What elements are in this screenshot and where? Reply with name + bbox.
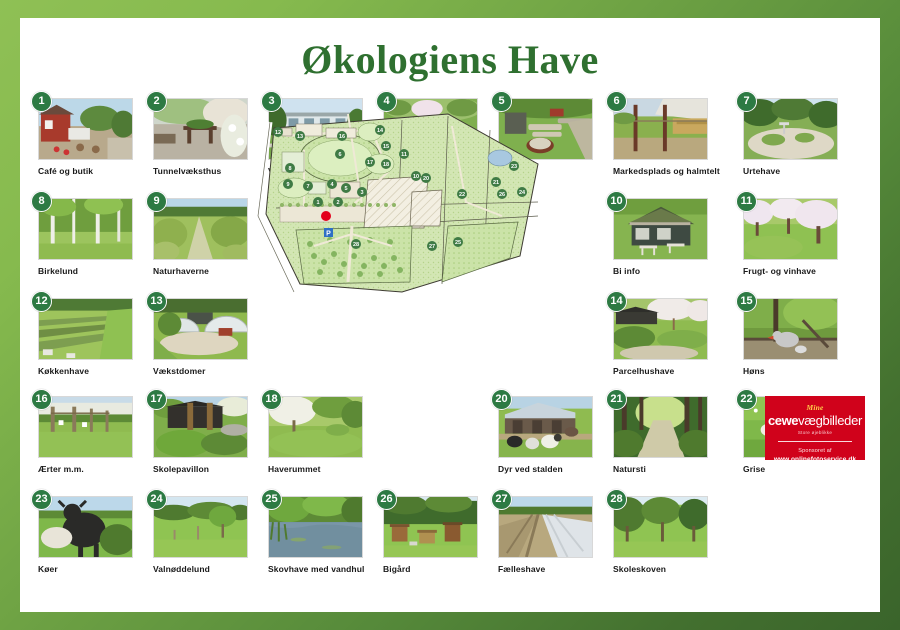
photo-thumbnail[interactable] xyxy=(743,198,838,260)
photo-caption: Urtehave xyxy=(743,166,838,176)
ad-sponsor-label: Sponsoret af xyxy=(765,448,865,454)
photo-thumbnail[interactable] xyxy=(153,396,248,458)
photo-card-25[interactable]: 25 Skovhave med vandhul xyxy=(268,496,393,574)
marker-badge: 28 xyxy=(606,489,627,510)
photo-card-15[interactable]: 15 Høns xyxy=(743,298,838,376)
photo-thumbnail[interactable] xyxy=(38,198,133,260)
marker-badge: 5 xyxy=(491,91,512,112)
svg-text:17: 17 xyxy=(367,160,373,166)
marker-badge: 8 xyxy=(31,191,52,212)
svg-text:3: 3 xyxy=(360,190,363,196)
photo-caption: Birkelund xyxy=(38,266,133,276)
svg-text:18: 18 xyxy=(383,162,389,168)
ad-divider xyxy=(778,441,852,442)
thumbnail-wrap[interactable]: 23 xyxy=(38,496,133,558)
photo-card-1[interactable]: 1 Café og butik xyxy=(38,98,133,176)
photo-card-10[interactable]: 10 Bi info xyxy=(613,198,708,276)
thumbnail-wrap[interactable]: 13 xyxy=(153,298,248,360)
thumbnail-wrap[interactable]: 1 xyxy=(38,98,133,160)
photo-thumbnail[interactable] xyxy=(613,98,708,160)
photo-caption: Dyr ved stalden xyxy=(498,464,593,474)
ad-url[interactable]: www.onlinefotoservice.dk xyxy=(765,456,865,461)
svg-text:11: 11 xyxy=(401,152,407,158)
marker-badge: 15 xyxy=(736,291,757,312)
svg-text:5: 5 xyxy=(344,186,347,192)
thumbnail-wrap[interactable]: 21 xyxy=(613,396,708,458)
marker-badge: 27 xyxy=(491,489,512,510)
thumbnail-wrap[interactable]: 24 xyxy=(153,496,248,558)
marker-badge: 25 xyxy=(261,489,282,510)
photo-card-2[interactable]: 2 Tunnelvæksthus xyxy=(153,98,248,176)
thumbnail-wrap[interactable]: 18 xyxy=(268,396,363,458)
thumbnail-wrap[interactable]: 26 xyxy=(383,496,478,558)
photo-caption: Skolepavillon xyxy=(153,464,248,474)
photo-card-28[interactable]: 28 Skoleskoven xyxy=(613,496,708,574)
ad-brand: cewevægbilleder xyxy=(765,413,865,429)
marker-badge: 2 xyxy=(146,91,167,112)
photo-caption: Tunnelvæksthus xyxy=(153,166,248,176)
photo-card-17[interactable]: 17 Skolepavillon xyxy=(153,396,248,474)
photo-thumbnail[interactable] xyxy=(153,298,248,360)
photo-thumbnail[interactable] xyxy=(153,198,248,260)
ad-brand-cewe: cewe xyxy=(768,413,798,428)
marker-badge: 9 xyxy=(146,191,167,212)
marker-badge: 24 xyxy=(146,489,167,510)
thumbnail-wrap[interactable]: 6 xyxy=(613,98,708,160)
marker-badge: 13 xyxy=(146,291,167,312)
svg-text:12: 12 xyxy=(275,130,281,136)
marker-badge: 26 xyxy=(376,489,397,510)
photo-card-16[interactable]: 16 Ærter m.m. xyxy=(38,396,133,474)
photo-thumbnail[interactable] xyxy=(613,396,708,458)
photo-thumbnail[interactable] xyxy=(38,98,133,160)
photo-card-24[interactable]: 24 Valnøddelund xyxy=(153,496,248,574)
photo-thumbnail[interactable] xyxy=(743,98,838,160)
thumbnail-wrap[interactable]: 9 xyxy=(153,198,248,260)
svg-text:25: 25 xyxy=(455,240,461,246)
thumbnail-wrap[interactable]: 27 xyxy=(498,496,593,558)
photo-thumbnail[interactable] xyxy=(613,198,708,260)
photo-card-14[interactable]: 14 Parcelhushave xyxy=(613,298,708,376)
svg-text:20: 20 xyxy=(423,176,429,182)
svg-text:15: 15 xyxy=(383,144,389,150)
photo-thumbnail[interactable] xyxy=(268,396,363,458)
photo-caption: Køer xyxy=(38,564,133,574)
photo-thumbnail[interactable] xyxy=(613,298,708,360)
svg-text:24: 24 xyxy=(519,190,526,196)
photo-thumbnail[interactable] xyxy=(153,496,248,558)
photo-card-12[interactable]: 12 Køkkenhave xyxy=(38,298,133,376)
thumbnail-wrap[interactable]: 8 xyxy=(38,198,133,260)
photo-caption: Skoleskoven xyxy=(613,564,708,574)
photo-thumbnail[interactable] xyxy=(268,496,363,558)
photo-card-23[interactable]: 23 Køer xyxy=(38,496,133,574)
svg-text:16: 16 xyxy=(339,134,345,140)
photo-card-26[interactable]: 26 Bigård xyxy=(383,496,478,574)
photo-caption: Valnøddelund xyxy=(153,564,248,574)
marker-badge: 6 xyxy=(606,91,627,112)
photo-thumbnail[interactable] xyxy=(153,98,248,160)
ad-mine-text: Mine xyxy=(765,404,865,412)
thumbnail-wrap[interactable]: 28 xyxy=(613,496,708,558)
photo-caption: Køkkenhave xyxy=(38,366,133,376)
svg-text:28: 28 xyxy=(353,242,359,248)
thumbnail-wrap[interactable]: 2 xyxy=(153,98,248,160)
page-title: Økologiens Have xyxy=(20,40,880,80)
marker-badge: 10 xyxy=(606,191,627,212)
svg-text:21: 21 xyxy=(493,180,499,186)
photo-caption: Frugt- og vinhave xyxy=(743,266,838,276)
svg-text:P: P xyxy=(326,231,331,238)
photo-caption: Ærter m.m. xyxy=(38,464,133,474)
marker-badge: 14 xyxy=(606,291,627,312)
sponsor-ad[interactable]: Mine cewevægbilleder Store øjeblikke Spo… xyxy=(765,396,865,460)
photo-thumbnail[interactable] xyxy=(613,496,708,558)
photo-thumbnail[interactable] xyxy=(38,396,133,458)
svg-text:23: 23 xyxy=(511,164,517,170)
svg-text:26: 26 xyxy=(499,192,505,198)
poster-page: Økologiens Have 1 Café og butik xyxy=(20,18,880,612)
marker-badge: 4 xyxy=(376,91,397,112)
photo-card-7[interactable]: 7 Urtehave xyxy=(743,98,838,176)
svg-text:10: 10 xyxy=(413,174,419,180)
photo-thumbnail[interactable] xyxy=(498,396,593,458)
you-are-here-marker xyxy=(321,211,331,221)
photo-thumbnail[interactable] xyxy=(38,298,133,360)
photo-card-21[interactable]: 21 Natursti xyxy=(613,396,708,474)
photo-thumbnail[interactable] xyxy=(38,496,133,558)
photo-grid: 1 Café og butik 2 Tunnelvæksth xyxy=(20,98,880,598)
ad-brand-vaegbilleder: vægbilleder xyxy=(798,413,862,428)
photo-caption: Naturhaverne xyxy=(153,266,248,276)
photo-caption: Parcelhushave xyxy=(613,366,708,376)
photo-card-8[interactable]: 8 Birkelund xyxy=(38,198,133,276)
photo-caption: Grise xyxy=(743,464,838,474)
photo-caption: Haverummet xyxy=(268,464,363,474)
marker-badge: 21 xyxy=(606,389,627,410)
svg-text:2: 2 xyxy=(336,200,339,206)
svg-text:1: 1 xyxy=(316,200,319,206)
photo-caption: Markedsplads og halmtelt xyxy=(613,166,743,176)
photo-card-27[interactable]: 27 Fælleshave xyxy=(498,496,593,574)
photo-thumbnail[interactable] xyxy=(383,496,478,558)
thumbnail-wrap[interactable]: 14 xyxy=(613,298,708,360)
thumbnail-wrap[interactable]: 10 xyxy=(613,198,708,260)
photo-thumbnail[interactable] xyxy=(743,298,838,360)
photo-caption: Høns xyxy=(743,366,838,376)
svg-text:7: 7 xyxy=(306,184,309,190)
photo-caption: Bigård xyxy=(383,564,478,574)
thumbnail-wrap[interactable]: 12 xyxy=(38,298,133,360)
marker-badge: 20 xyxy=(491,389,512,410)
ad-slogan: Store øjeblikke xyxy=(765,430,865,435)
photo-caption: Skovhave med vandhul xyxy=(268,564,393,574)
photo-card-11[interactable]: 11 Frugt- og vinhave xyxy=(743,198,838,276)
marker-badge: 12 xyxy=(31,291,52,312)
svg-text:27: 27 xyxy=(429,244,435,250)
photo-caption: Fælleshave xyxy=(498,564,593,574)
marker-badge: 16 xyxy=(31,389,52,410)
marker-badge: 3 xyxy=(261,91,282,112)
photo-caption: Natursti xyxy=(613,464,708,474)
svg-text:14: 14 xyxy=(377,128,384,134)
marker-badge: 22 xyxy=(736,389,757,410)
photo-caption: Bi info xyxy=(613,266,708,276)
garden-site-map[interactable]: P 123 4 xyxy=(252,106,542,301)
marker-badge: 1 xyxy=(31,91,52,112)
marker-badge: 17 xyxy=(146,389,167,410)
svg-text:13: 13 xyxy=(297,134,303,140)
thumbnail-wrap[interactable]: 20 xyxy=(498,396,593,458)
marker-badge: 11 xyxy=(736,191,757,212)
photo-thumbnail[interactable] xyxy=(498,496,593,558)
photo-card-13[interactable]: 13 Vækstdomer xyxy=(153,298,248,376)
photo-card-9[interactable]: 9 Naturhaverne xyxy=(153,198,248,276)
photo-caption: Vækstdomer xyxy=(153,366,248,376)
svg-text:22: 22 xyxy=(459,192,465,198)
svg-text:8: 8 xyxy=(288,166,291,172)
photo-card-18[interactable]: 18 Haverummet xyxy=(268,396,363,474)
thumbnail-wrap[interactable]: 11 xyxy=(743,198,838,260)
marker-badge: 7 xyxy=(736,91,757,112)
thumbnail-wrap[interactable]: 15 xyxy=(743,298,838,360)
photo-caption: Café og butik xyxy=(38,166,133,176)
photo-card-6[interactable]: 6 Markedsplads og halmtelt xyxy=(613,98,743,176)
thumbnail-wrap[interactable]: 7 xyxy=(743,98,838,160)
marker-badge: 18 xyxy=(261,389,282,410)
thumbnail-wrap[interactable]: 25 xyxy=(268,496,363,558)
photo-card-20[interactable]: 20 Dyr ved stalden xyxy=(498,396,593,474)
svg-text:6: 6 xyxy=(338,152,341,158)
marker-badge: 23 xyxy=(31,489,52,510)
thumbnail-wrap[interactable]: 17 xyxy=(153,396,248,458)
thumbnail-wrap[interactable]: 16 xyxy=(38,396,133,458)
svg-text:9: 9 xyxy=(286,182,289,188)
